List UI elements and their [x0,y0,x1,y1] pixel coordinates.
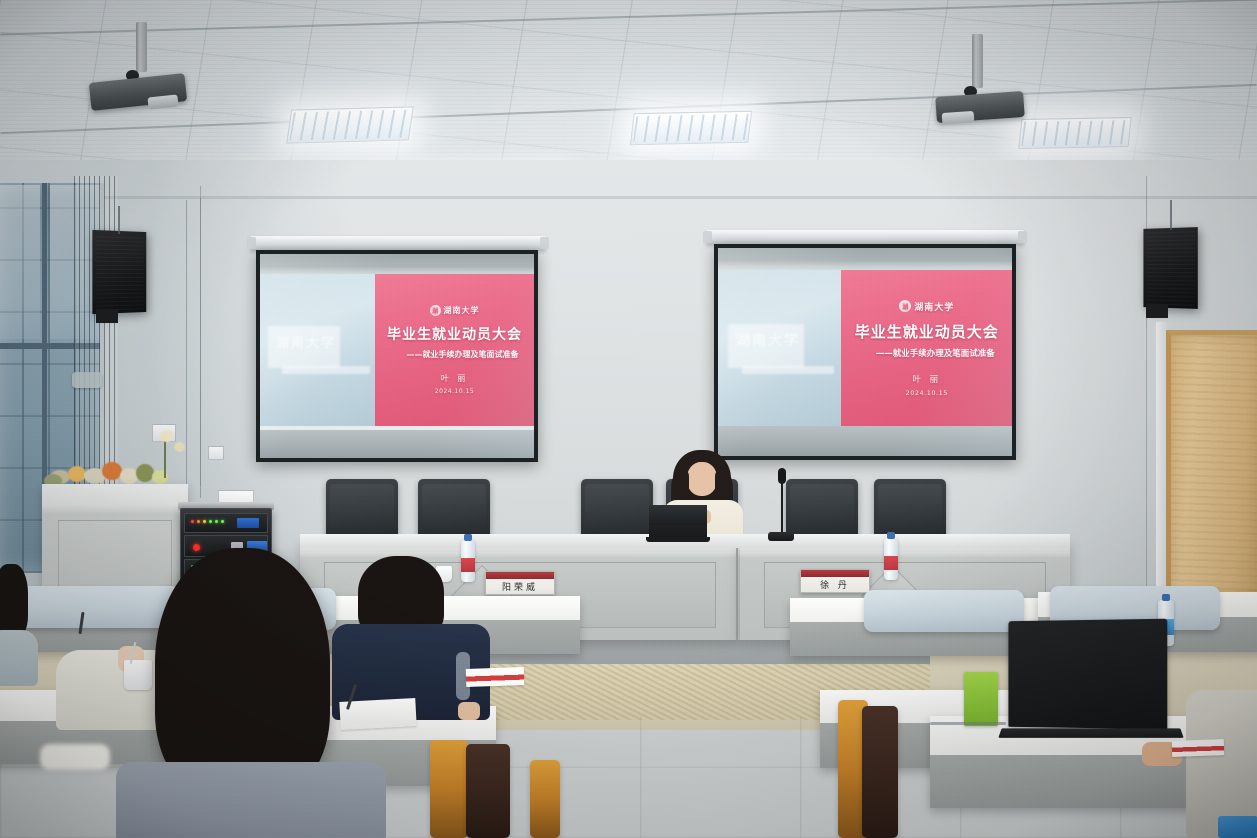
speaker-bracket [96,309,118,323]
wall-speaker [92,230,146,314]
slide-university-logo: 湖 湖南大学 [899,300,954,313]
ceiling-projector [930,34,1030,118]
audience-chair-back[interactable] [430,740,468,838]
nameplate: 徐 丹 [800,569,870,593]
nameplate-text: 阳荣威 [486,579,554,594]
slide-content: 湖南大学 湖 湖南大学 毕业生就业动员大会 ——就业手续办理及笔面试准备 叶 丽… [718,270,1012,426]
wall-speaker [1143,227,1197,309]
speaker-bracket [1146,304,1168,318]
slide-presenter-name: 叶 丽 [912,373,941,385]
person-face [687,462,717,496]
slide-date: 2024.10.15 [435,388,474,395]
slide-title-panel: 湖 湖南大学 毕业生就业动员大会 ——就业手续办理及笔面试准备 叶 丽 2024… [841,270,1012,426]
head-table-seam [736,540,738,640]
door [1166,330,1257,630]
wall-trim-line [0,196,1257,199]
student-hair [155,548,330,798]
student-hair [0,564,28,638]
left-projection-screen[interactable]: 湖南大学 湖 湖南大学 毕业生就业动员大会 ——就业手续办理及笔面试准备 叶 丽… [256,250,538,462]
wall-conduit [200,198,201,498]
audience-chair-back[interactable] [530,760,560,838]
student-laptop[interactable] [1000,620,1180,750]
presenter-laptop-base [646,537,710,542]
slide-main-title: 毕业生就业动员大会 [387,324,522,344]
university-name: 湖南大学 [914,300,954,313]
ceiling-light-panel [1018,117,1131,149]
student [336,556,486,716]
slide-content: 湖南大学 湖 湖南大学 毕业生就业动员大会 ——就业手续办理及笔面试准备 叶 丽… [260,274,534,426]
tissue-box[interactable] [964,672,998,726]
audience-chair-back[interactable] [466,744,510,838]
table-microphone[interactable] [766,468,796,544]
slide-date: 2024.10.15 [906,389,948,397]
student-body [116,762,386,838]
document-card[interactable] [1172,739,1225,757]
slide-photo-panel: 湖南大学 [718,270,841,426]
wall-conduit [186,200,187,490]
student [0,564,34,684]
nameplate-text: 徐 丹 [801,577,869,592]
slide-university-logo: 湖 湖南大学 [430,305,480,316]
water-bottle[interactable] [884,538,898,580]
university-seal-icon: 湖 [430,305,441,316]
slide-title-panel: 湖 湖南大学 毕业生就业动员大会 ——就业手续办理及笔面试准备 叶 丽 2024… [375,274,534,426]
audience-chair-back[interactable] [862,706,898,838]
wall-socket [208,446,224,460]
student-hand [458,702,480,720]
speaker-wire [1170,200,1172,230]
projection-screen-housing [250,236,546,250]
smartphone[interactable] [1218,816,1257,838]
student-body [0,630,38,686]
ceiling-light-panel [630,111,752,145]
presenter-laptop[interactable] [649,505,707,539]
document-card[interactable] [466,667,525,687]
university-name: 湖南大学 [444,305,480,316]
slide-subtitle: ——就业手续办理及笔面试准备 [407,349,519,360]
ceiling-projector [86,22,196,104]
slide-subtitle: ——就业手续办理及笔面试准备 [876,347,995,359]
slide-main-title: 毕业生就业动员大会 [855,321,999,342]
slide-photo-panel: 湖南大学 [260,274,375,426]
projection-screen-housing [706,230,1024,244]
ceiling-light-panel [286,106,414,143]
slide-presenter-name: 叶 丽 [441,373,469,384]
curtain-tieback [72,372,102,388]
right-projection-screen[interactable]: 湖南大学 湖 湖南大学 毕业生就业动员大会 ——就业手续办理及笔面试准备 叶 丽… [714,244,1016,460]
laptop-cable [930,722,1006,725]
speaker-wire [118,206,120,234]
nameplate: 阳荣威 [485,571,555,595]
university-seal-icon: 湖 [899,300,911,312]
lecture-hall-photo: 湖南大学 湖 湖南大学 毕业生就业动员大会 ——就业手续办理及笔面试准备 叶 丽… [0,0,1257,838]
